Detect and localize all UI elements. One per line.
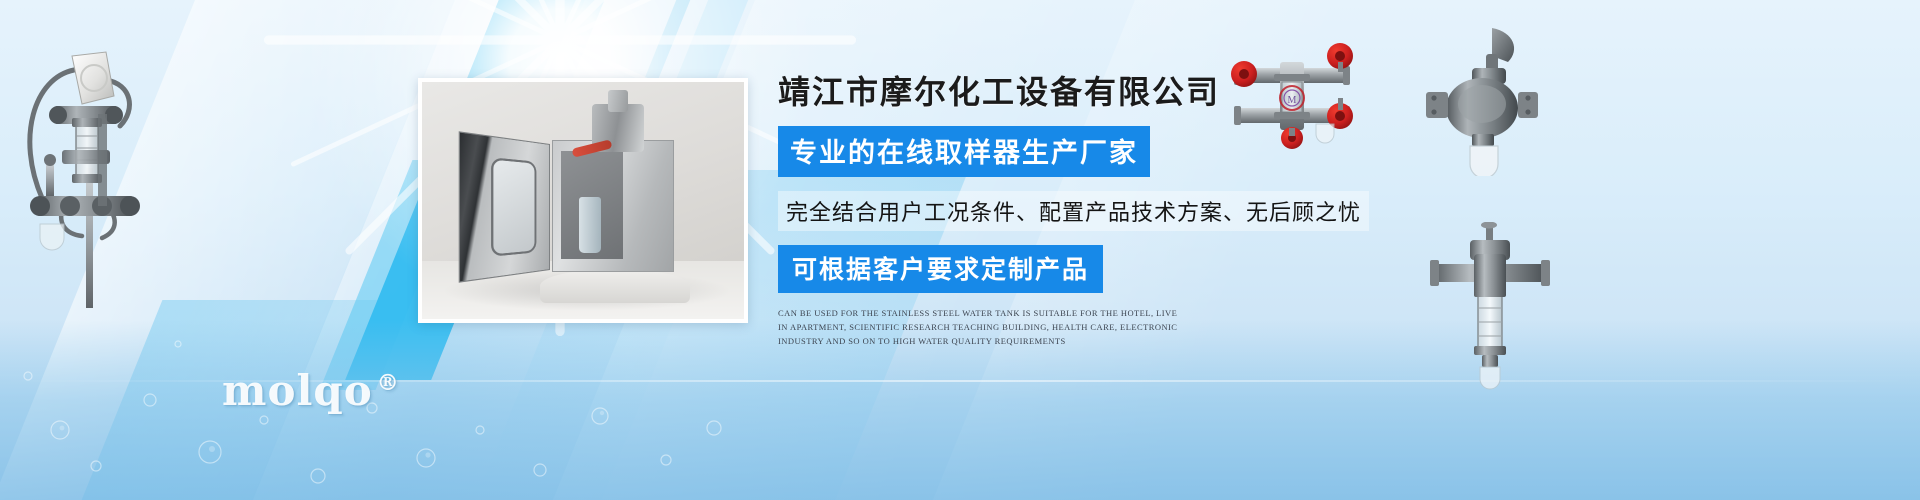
watermark-logo: molqo® — [222, 366, 400, 415]
photo-door-window — [491, 157, 536, 256]
registered-mark: ® — [377, 370, 400, 396]
photo-valve-stack — [608, 90, 628, 112]
photo-cabinet-interior — [561, 151, 623, 259]
photo-sample-bottle — [579, 197, 601, 253]
company-name: 靖江市摩尔化工设备有限公司 — [778, 72, 1398, 112]
product-photo-sampler-cabinet — [422, 82, 744, 319]
photo-cabinet-body — [552, 140, 674, 272]
watermark-text: molqo — [222, 366, 373, 415]
promotional-banner: 靖江市摩尔化工设备有限公司 专业的在线取样器生产厂家 完全结合用户工况条件、配置… — [0, 0, 1920, 500]
photo-pedestal — [540, 269, 690, 303]
product-photo-card — [418, 78, 748, 323]
english-description: CAN BE USED FOR THE STAINLESS STEEL WATE… — [778, 307, 1178, 348]
tagline-badge: 专业的在线取样器生产厂家 — [778, 126, 1150, 177]
equipment-online-sampler-icon — [10, 18, 180, 308]
equipment-sight-glass-sampler-icon — [1430, 222, 1550, 390]
feature-line: 完全结合用户工况条件、配置产品技术方案、无后顾之忧 — [778, 191, 1369, 231]
equipment-valve-body-icon — [1422, 26, 1542, 176]
customization-badge: 可根据客户要求定制产品 — [778, 245, 1103, 293]
photo-cabinet-door — [459, 131, 550, 282]
banner-text-block: 靖江市摩尔化工设备有限公司 专业的在线取样器生产厂家 完全结合用户工况条件、配置… — [778, 72, 1398, 348]
